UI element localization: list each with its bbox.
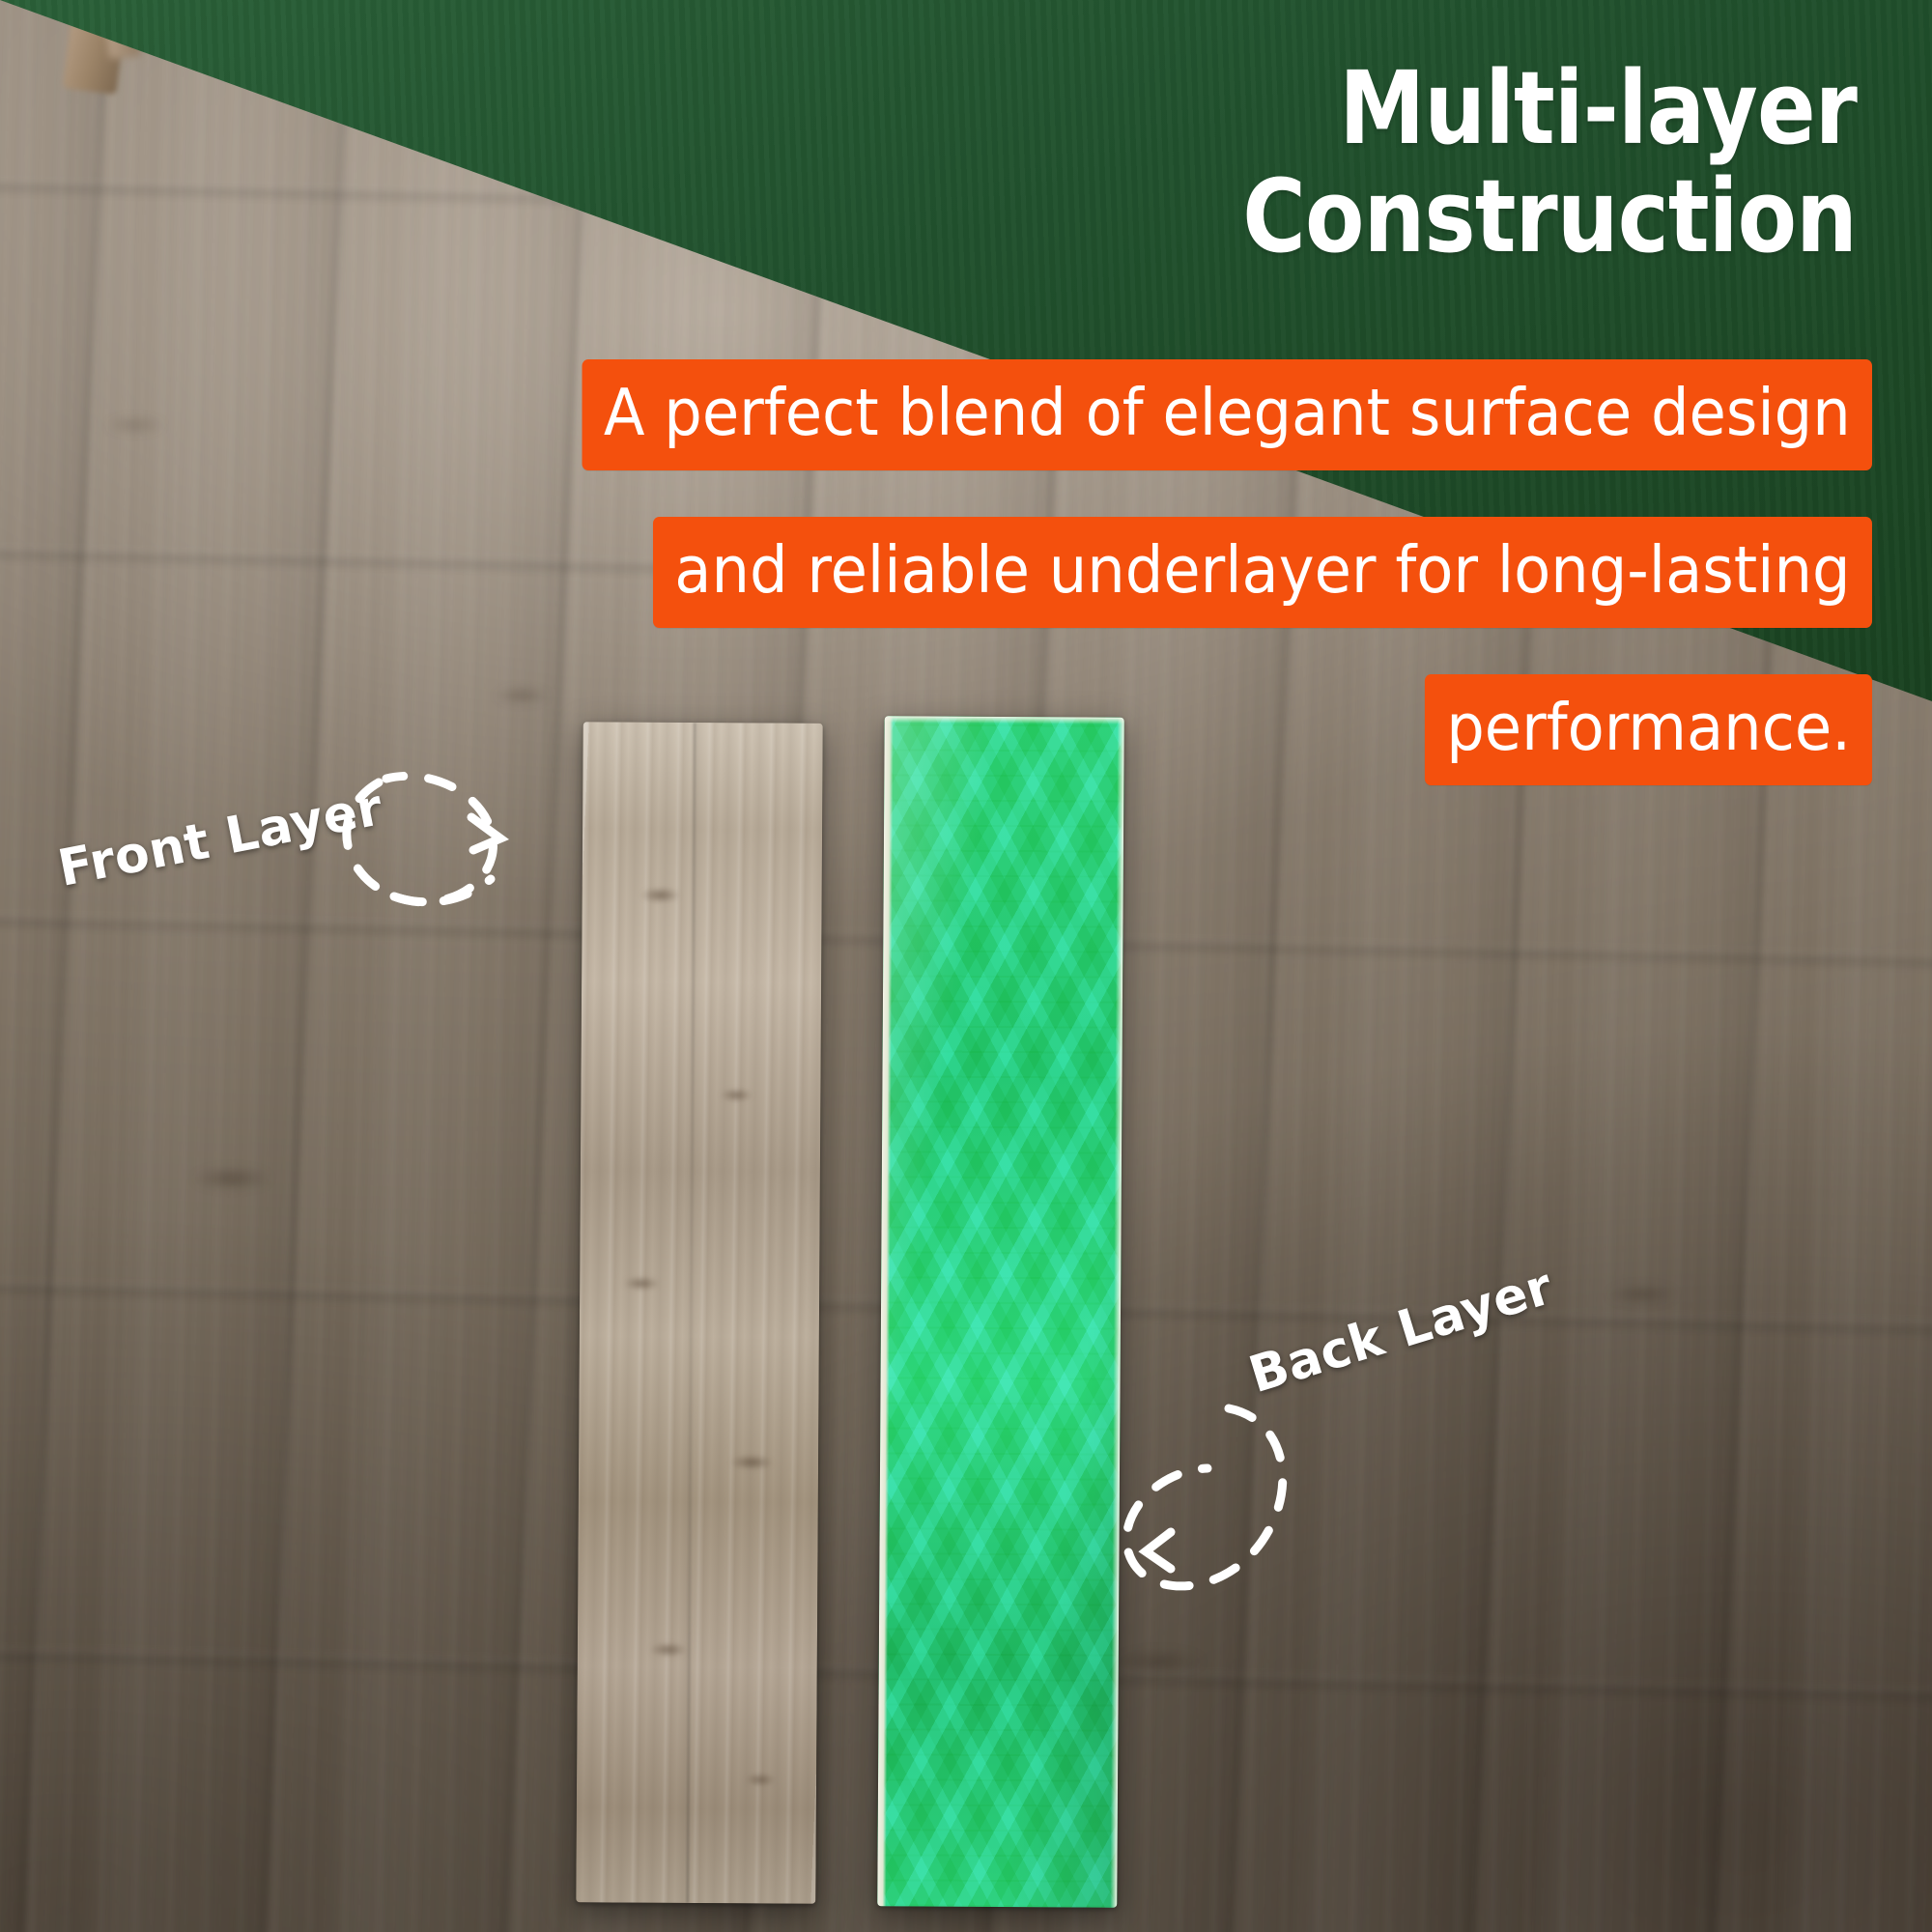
subtitle-band-1: A perfect blend of elegant surface desig… xyxy=(582,359,1872,470)
subtitle-band-2: and reliable underlayer for long-lasting xyxy=(653,517,1872,628)
subtitle-band-3: performance. xyxy=(1424,674,1872,785)
plank-seam xyxy=(686,723,696,1903)
front-layer-plank xyxy=(576,722,822,1903)
marketing-image: Multi-layer Construction A perfect blend… xyxy=(0,0,1932,1932)
plank-knot xyxy=(720,1089,753,1101)
title-line-2: Construction xyxy=(926,162,1857,270)
plank-gloss-highlight xyxy=(877,716,1124,1907)
plank-knot xyxy=(639,888,680,903)
plank-knot xyxy=(745,1774,776,1785)
title-line-1: Multi-layer xyxy=(926,54,1857,162)
plank-knot xyxy=(649,1643,688,1657)
plank-knot xyxy=(623,1277,660,1291)
back-layer-plank xyxy=(877,716,1124,1907)
plank-knot xyxy=(729,1455,774,1469)
page-title: Multi-layer Construction xyxy=(775,54,1857,271)
plank-top-edge xyxy=(885,716,1124,724)
